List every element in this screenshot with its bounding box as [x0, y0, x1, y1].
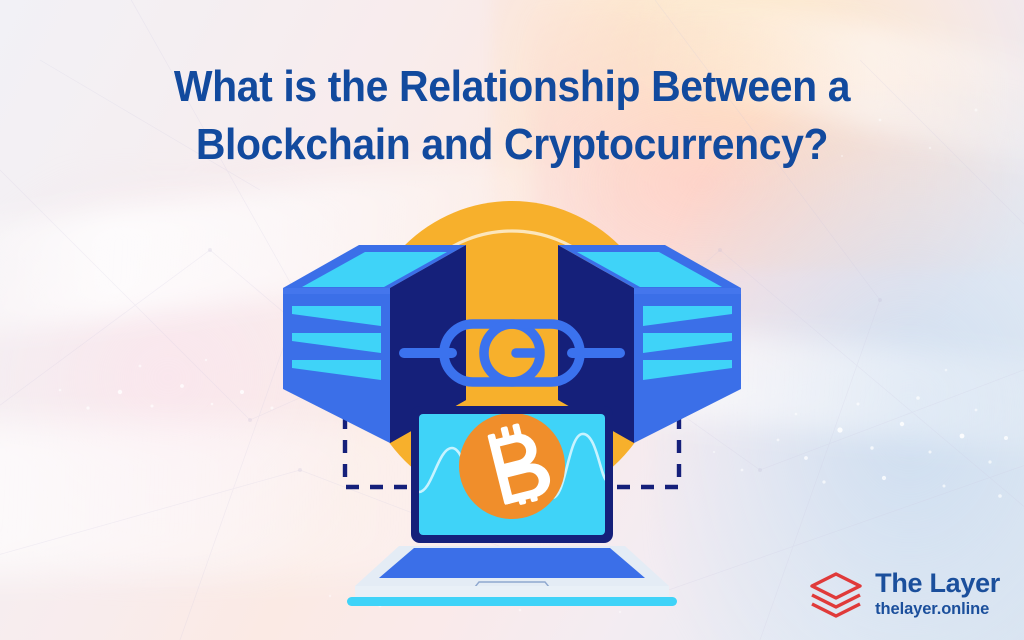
bitcoin-coin	[459, 413, 565, 519]
title-line-1: What is the Relationship Between a	[36, 58, 988, 116]
brand-logo-text: The Layer thelayer.online	[875, 570, 1000, 618]
brand-url: thelayer.online	[875, 601, 1000, 618]
stacked-layers-icon	[808, 570, 864, 618]
laptop-keyboard	[379, 548, 645, 578]
page-title: What is the Relationship Between a Block…	[0, 58, 1024, 174]
brand-logo[interactable]: The Layer thelayer.online	[808, 570, 1000, 618]
brand-name: The Layer	[875, 570, 1000, 597]
title-line-2: Blockchain and Cryptocurrency?	[36, 116, 988, 174]
banner-canvas: What is the Relationship Between a Block…	[0, 0, 1024, 640]
laptop-front-bar	[347, 597, 677, 606]
